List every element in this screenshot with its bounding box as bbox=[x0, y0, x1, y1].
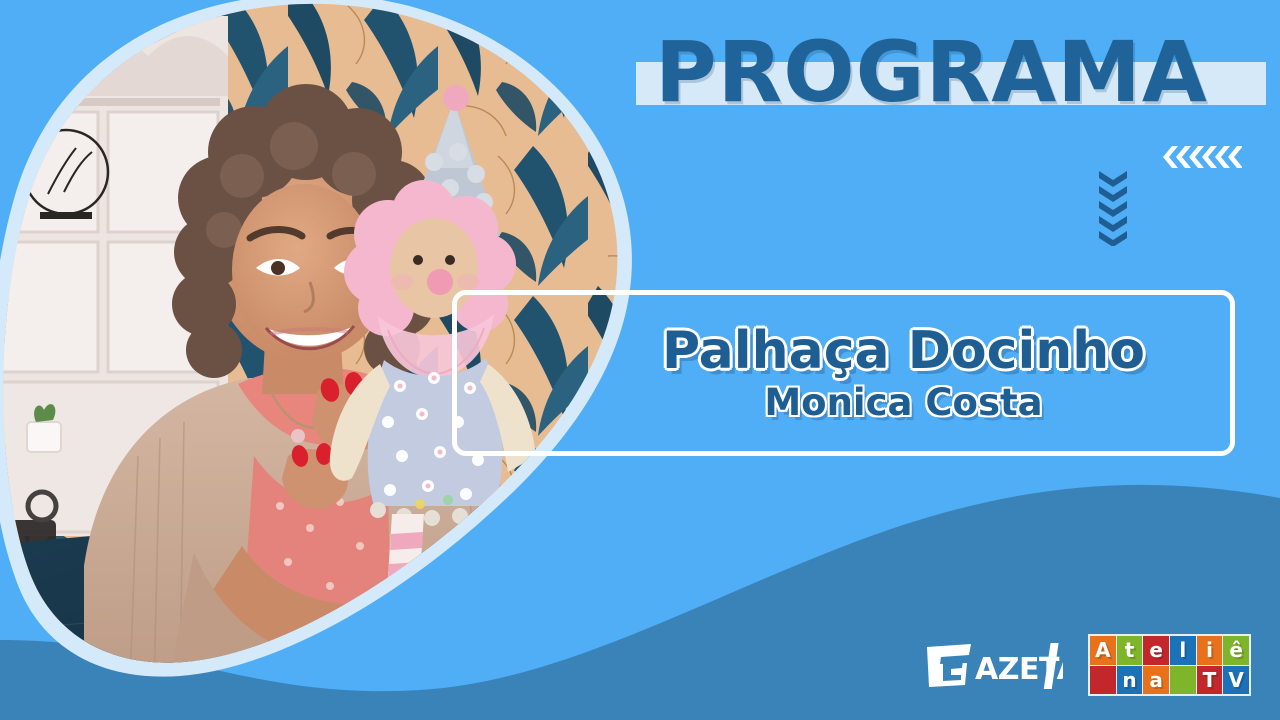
gazeta-logo: AZETA bbox=[925, 639, 1063, 691]
atelie-tile-3: l bbox=[1170, 636, 1196, 665]
name-card: Palhaça Docinho Monica Costa bbox=[452, 290, 1235, 456]
atelie-tile-4: i bbox=[1197, 636, 1223, 665]
atelie-tile-11: V bbox=[1223, 666, 1249, 695]
atelie-tile-8: a bbox=[1143, 666, 1169, 695]
page-title: PROGRAMA bbox=[655, 22, 1255, 122]
chevron-down-icon bbox=[1097, 170, 1129, 246]
atelie-tile-blank-6 bbox=[1090, 666, 1116, 695]
project-title: Palhaça Docinho bbox=[662, 321, 1145, 381]
atelie-tile-2: e bbox=[1143, 636, 1169, 665]
atelie-na-tv-logo: AteliênaTV bbox=[1088, 634, 1251, 696]
atelie-tile-5: ê bbox=[1223, 636, 1249, 665]
atelie-tile-1: t bbox=[1117, 636, 1143, 665]
atelie-tile-10: T bbox=[1197, 666, 1223, 695]
atelie-tile-7: n bbox=[1117, 666, 1143, 695]
atelie-tile-blank-9 bbox=[1170, 666, 1196, 695]
chevron-left-icon bbox=[1162, 146, 1242, 168]
atelie-tile-grid: AteliênaTV bbox=[1090, 636, 1249, 694]
presenter-name: Monica Costa bbox=[764, 381, 1042, 425]
atelie-tile-0: A bbox=[1090, 636, 1116, 665]
lower-third-graphic: PROGRAMA Palhaça Do bbox=[0, 0, 1280, 720]
